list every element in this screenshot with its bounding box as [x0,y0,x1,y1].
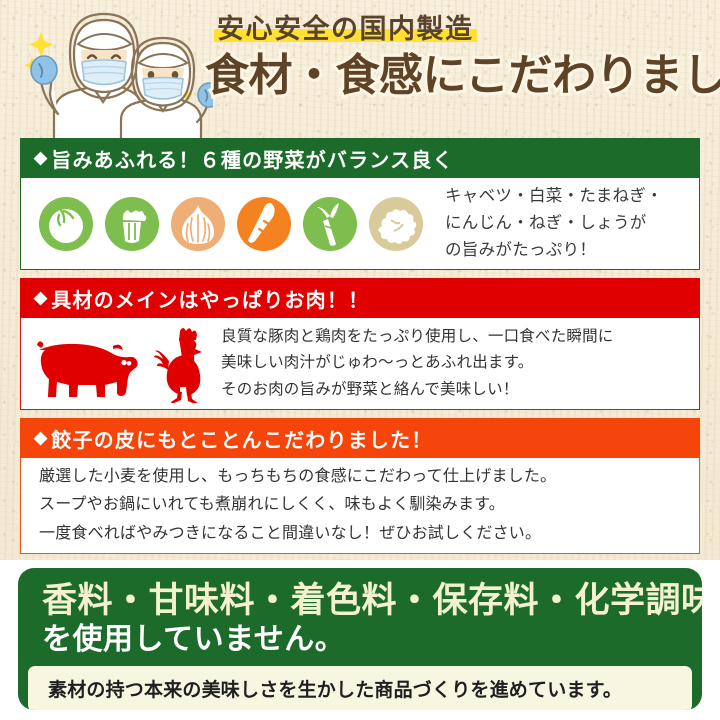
vegetables-description-line: キャベツ・白菜・たまねぎ・ [445,183,663,210]
panel-vegetables-title: 旨みあふれる！６種の野菜がバランス良く [51,144,453,173]
meat-description-line: そのお肉の旨みが野菜と絡んで美味しい！ [221,377,614,404]
meat-description-line: 美味しい肉汁がじゅわ～っとあふれ出ます。 [221,350,614,377]
face-mask-icon [143,78,183,100]
kicker-text: 安心安全の国内製造 [217,14,474,45]
meat-description: 良質な豚肉と鶏肉をたっぷり使用し、一口食べた瞬間に 美味しい肉汁がじゅわ～っとあ… [221,324,614,404]
two-factory-workers-illustration [8,10,213,142]
panel-vegetables-body: キャベツ・白菜・たまねぎ・ にんじん・ねぎ・しょうが の旨みがたっぷり！ [20,178,700,270]
napa-cabbage-icon [101,193,163,255]
cabbage-icon [35,193,97,255]
panel-gyoza-skin-title: 餃子の皮にもとことんこだわりました！ [51,424,432,453]
panel-meat-header: ◆ 具材のメインはやっぱりお肉！！ [20,278,700,318]
no-additives-banner: 香料・甘味料・着色料・保存料・化学調味料 を使用していません。 素材の持つ本来の… [0,560,720,720]
no-additives-subline: を使用していません。 [18,621,702,659]
panel-meat: ◆ 具材のメインはやっぱりお肉！！ [20,278,700,410]
kicker-wrapper: 安心安全の国内製造 [217,14,474,45]
panel-vegetables-header: ◆ 旨みあふれる！６種の野菜がバランス良く [20,138,700,178]
vegetable-icon-row [21,193,427,255]
panel-vegetables: ◆ 旨みあふれる！６種の野菜がバランス良く [20,138,700,270]
gyoza-skin-description-line: 厳選した小麦を使用し、もっちもちの食感にこだわって仕上げました。 [39,463,556,491]
gyoza-skin-description-line: 一度食べればやみつきになること間違いなし！ぜひお試しください。 [39,520,556,548]
meat-description-line: 良質な豚肉と鶏肉をたっぷり使用し、一口食べた瞬間に [221,324,614,351]
gyoza-skin-description-line: スープやお鍋にいれても煮崩れにしくく、味もよく馴染みます。 [39,491,556,519]
diamond-bullet-icon: ◆ [34,428,48,448]
header-text-block: 安心安全の国内製造 食材・食感にこだわりました！ [205,14,715,100]
vegetables-description-line: の旨みがたっぷり！ [445,237,663,264]
pig-silhouette-icon [25,331,145,397]
panel-gyoza-skin-header: ◆ 餃子の皮にもとことんこだわりました！ [20,418,700,458]
ginger-icon [365,193,427,255]
vegetables-description: キャベツ・白菜・たまねぎ・ にんじん・ねぎ・しょうが の旨みがたっぷり！ [445,183,663,263]
header: 安心安全の国内製造 食材・食感にこだわりました！ [0,0,720,140]
no-additives-banner-inner: 香料・甘味料・着色料・保存料・化学調味料 を使用していません。 素材の持つ本来の… [18,568,702,710]
meat-icon-row [21,325,221,403]
panel-gyoza-skin-body: 厳選した小麦を使用し、もっちもちの食感にこだわって仕上げました。 スープやお鍋に… [20,458,700,554]
carrot-icon [233,193,295,255]
panel-meat-title: 具材のメインはやっぱりお肉！！ [51,284,369,313]
diamond-bullet-icon: ◆ [34,148,48,168]
no-additives-headline: 香料・甘味料・着色料・保存料・化学調味料 [18,580,702,622]
diamond-bullet-icon: ◆ [34,288,48,308]
chicken-silhouette-icon [153,325,217,403]
page-title: 食材・食感にこだわりました！ [205,51,715,100]
promo-page: 安心安全の国内製造 食材・食感にこだわりました！ ◆ 旨みあふれる！６種の野菜が… [0,0,720,720]
panel-meat-body: 良質な豚肉と鶏肉をたっぷり使用し、一口食べた瞬間に 美味しい肉汁がじゅわ～っとあ… [20,318,700,410]
no-additives-note: 素材の持つ本来の美味しさを生かした商品づくりを進めています。 [28,666,692,711]
vegetables-description-line: にんじん・ねぎ・しょうが [445,210,663,237]
green-onion-icon [299,193,361,255]
no-additives-note-text: 素材の持つ本来の美味しさを生かした商品づくりを進めています。 [48,675,622,702]
panel-gyoza-skin: ◆ 餃子の皮にもとことんこだわりました！ 厳選した小麦を使用し、もっちもちの食感… [20,418,700,554]
gyoza-skin-description: 厳選した小麦を使用し、もっちもちの食感にこだわって仕上げました。 スープやお鍋に… [21,463,556,548]
onion-icon [167,193,229,255]
